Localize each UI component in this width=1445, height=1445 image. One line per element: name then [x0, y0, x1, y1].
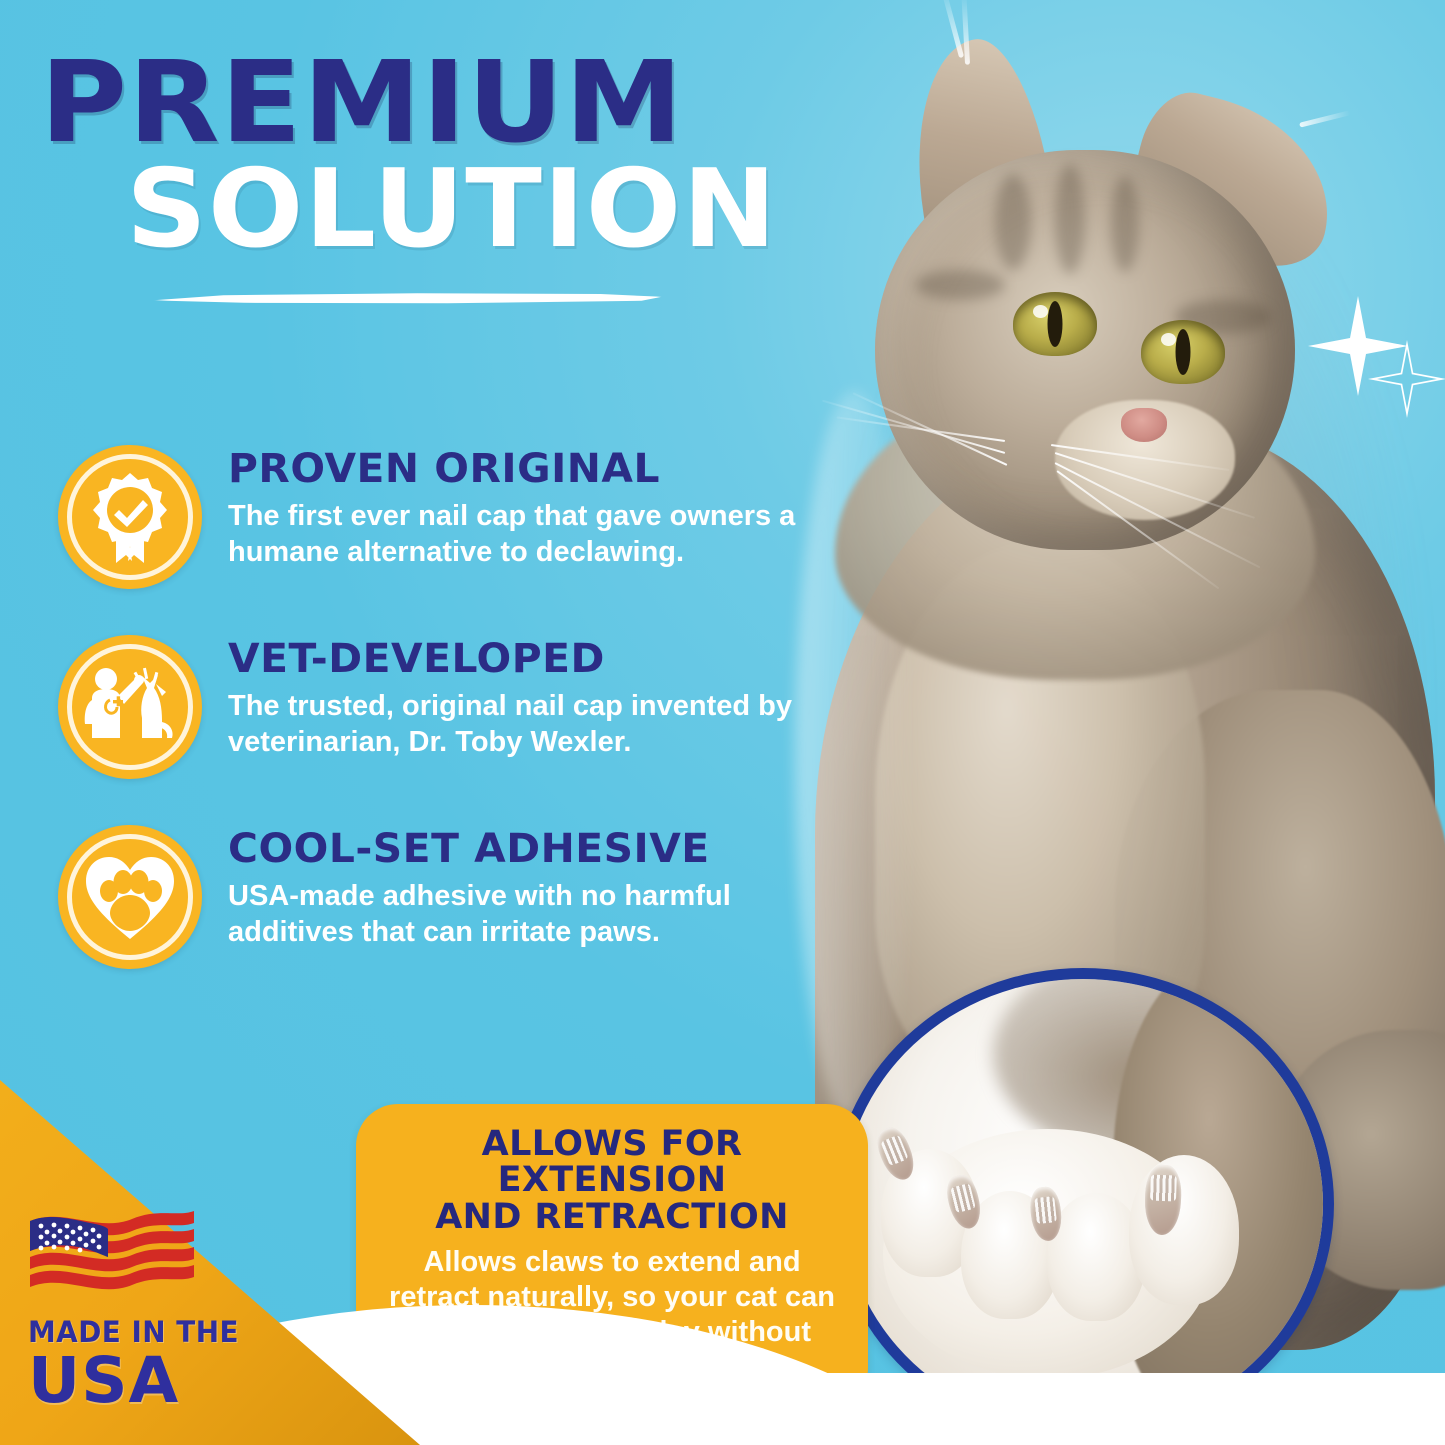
feature-item-proven-original: PROVEN ORIGINAL The first ever nail cap … [58, 445, 848, 589]
usa-flag-icon [28, 1199, 196, 1303]
callout-title-line-2: AND RETRACTION [435, 1197, 789, 1237]
cat-eye-right [1141, 320, 1225, 384]
feature-body: The trusted, original nail cap invented … [228, 688, 828, 761]
headline: PREMIUM SOLUTION [40, 52, 840, 262]
feature-title: PROVEN ORIGINAL [228, 449, 860, 491]
feature-item-vet-developed: VET-DEVELOPED The trusted, original nail… [58, 635, 848, 779]
product-feature-poster: PREMIUM SOLUTION PROVEN ORIGINAL Th [0, 0, 1445, 1445]
cat-nose [1121, 408, 1167, 442]
feature-title: VET-DEVELOPED [228, 639, 860, 681]
callout-title: ALLOWS FOR EXTENSION AND RETRACTION [382, 1126, 842, 1235]
made-in-usa-badge: MADE IN THE USA [28, 1199, 258, 1411]
cat-eye-left [1013, 292, 1097, 356]
feature-title: COOL-SET ADHESIVE [228, 829, 860, 871]
feature-item-cool-set-adhesive: COOL-SET ADHESIVE USA-made adhesive with… [58, 825, 848, 969]
made-in-usa-line-2: USA [28, 1351, 263, 1411]
feature-body: The first ever nail cap that gave owners… [228, 498, 828, 571]
callout-title-line-1: ALLOWS FOR EXTENSION [482, 1124, 743, 1200]
headline-line-2: SOLUTION [126, 159, 869, 262]
feature-list: PROVEN ORIGINAL The first ever nail cap … [58, 445, 848, 1015]
heart-paw-print-icon [58, 825, 202, 969]
feature-body: USA-made adhesive with no harmful additi… [228, 878, 788, 951]
headline-line-1: PREMIUM [40, 52, 888, 155]
veterinarian-high-five-cat-icon [58, 635, 202, 779]
paw-toe [1129, 1155, 1239, 1305]
award-ribbon-check-icon [58, 445, 202, 589]
paw-closeup-inset [832, 968, 1334, 1440]
